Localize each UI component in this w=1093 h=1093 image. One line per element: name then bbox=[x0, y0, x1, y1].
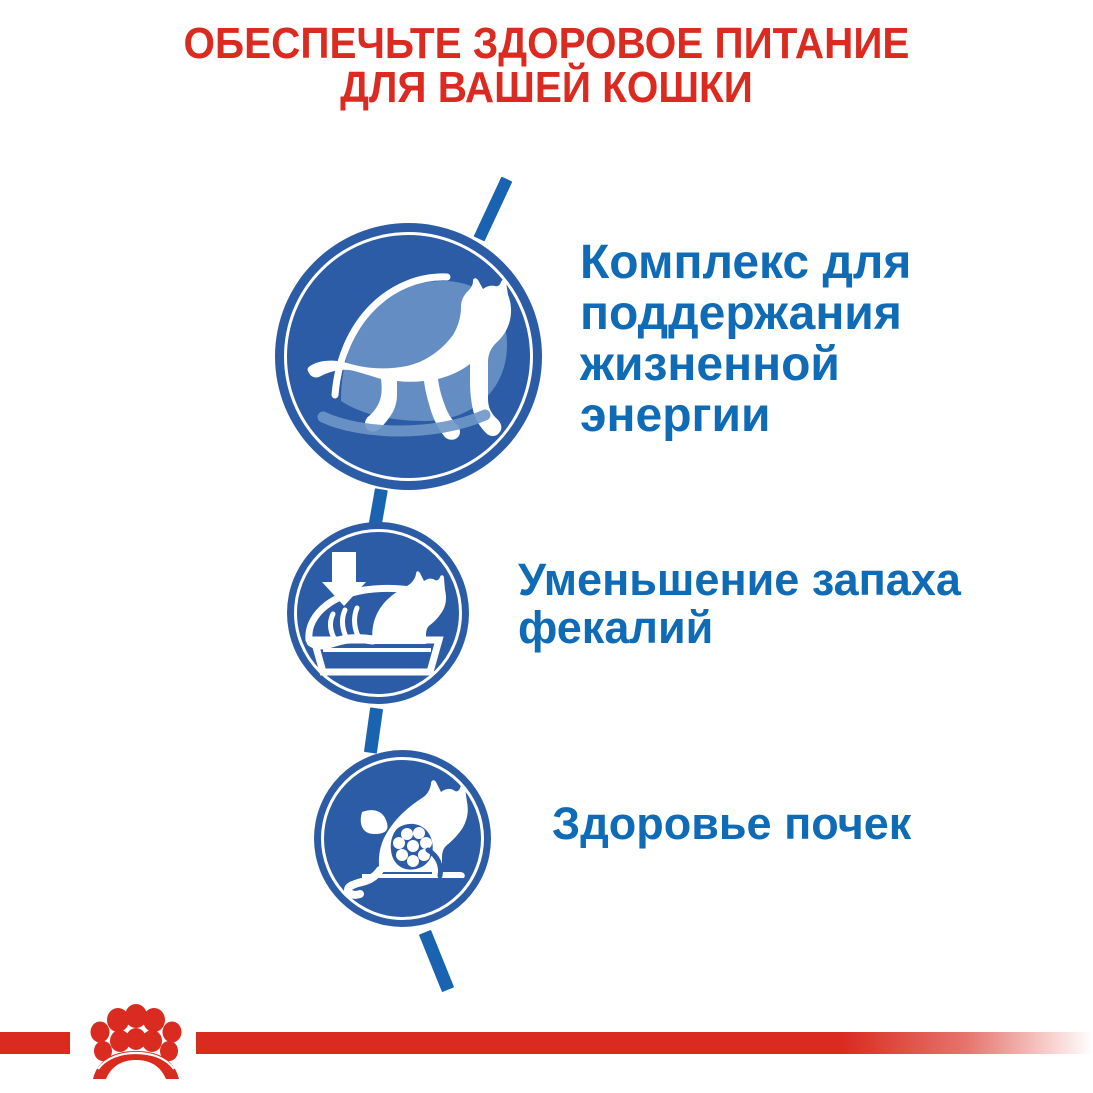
cat-kidney-health-icon bbox=[314, 750, 491, 927]
footer-bar-left bbox=[0, 1032, 70, 1054]
benefit-icon-circle-3 bbox=[314, 750, 491, 927]
royal-canin-crown-logo bbox=[78, 1003, 194, 1083]
footer-bar-right bbox=[196, 1032, 1093, 1054]
poster-canvas: ОБЕСПЕЧЬТЕ ЗДОРОВОЕ ПИТАНИЕ ДЛЯ ВАШЕЙ КО… bbox=[0, 0, 1093, 1093]
benefit-label-3: Здоровье почек bbox=[552, 800, 1032, 848]
benefit-item-3: Здоровье почек bbox=[0, 0, 1093, 1093]
